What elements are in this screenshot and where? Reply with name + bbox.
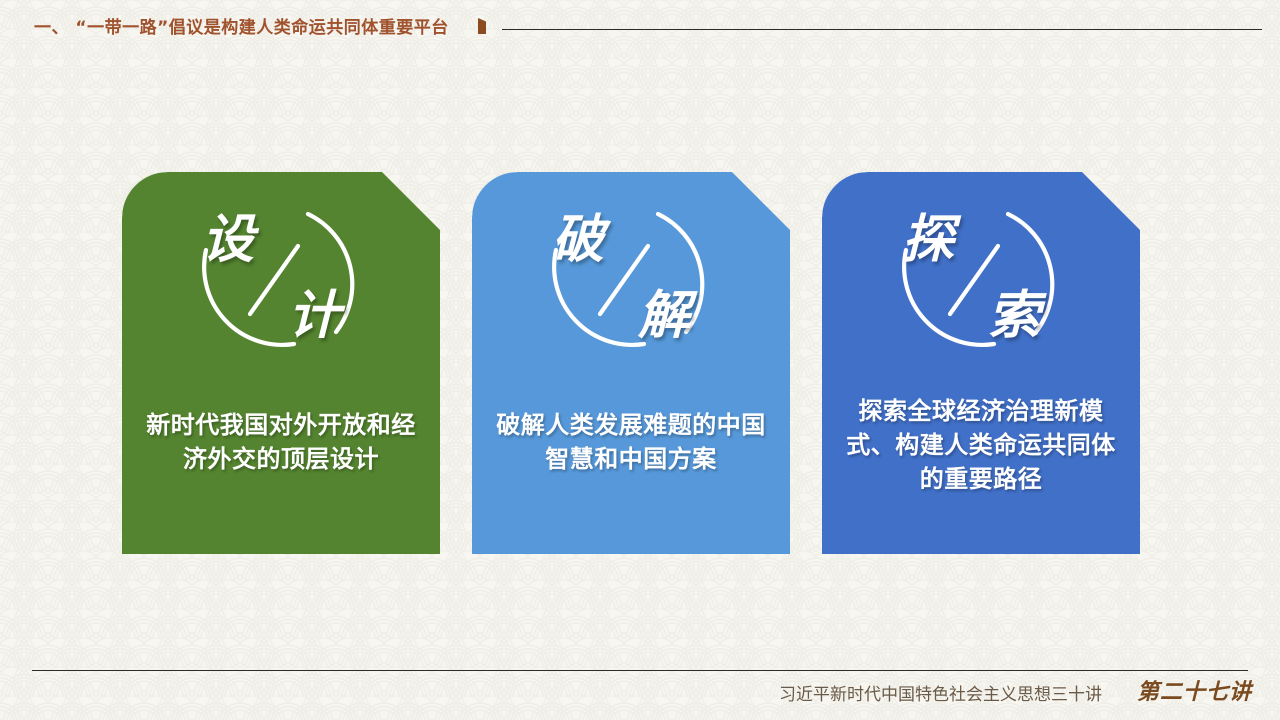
card-explore-body-text: 探索全球经济治理新模式、构建人类命运共同体的重要路径 <box>822 394 1140 496</box>
card-design-glyph-bottom: 计 <box>288 290 340 342</box>
card-solve-glyph-bottom: 解 <box>638 290 690 342</box>
card-group: 设 计 新时代我国对外开放和经济外交的顶层设计 <box>0 0 1280 720</box>
card-design-glyph-top: 设 <box>202 214 254 266</box>
card-explore-surface: 探 索 探索全球经济治理新模式、构建人类命运共同体的重要路径 <box>822 172 1140 554</box>
card-explore-glyph-top: 探 <box>902 214 954 266</box>
slide-footer: 习近平新时代中国特色社会主义思想三十讲 第二十七讲 <box>0 660 1280 720</box>
card-solve-body-text: 破解人类发展难题的中国智慧和中国方案 <box>472 408 790 476</box>
card-design[interactable]: 设 计 新时代我国对外开放和经济外交的顶层设计 <box>122 172 440 554</box>
card-explore-glyph-bottom: 索 <box>988 290 1040 342</box>
card-design-body-text: 新时代我国对外开放和经济外交的顶层设计 <box>122 408 440 476</box>
card-solve-glyph-top: 破 <box>552 214 604 266</box>
slide-canvas: 一、 “一带一路”倡议是构建人类命运共同体重要平台 <box>0 0 1280 720</box>
card-design-calligraphy: 设 计 <box>122 172 440 392</box>
card-explore-calligraphy: 探 索 <box>822 172 1140 392</box>
footer-series-title: 习近平新时代中国特色社会主义思想三十讲 <box>779 680 1102 705</box>
card-solve-calligraphy: 破 解 <box>472 172 790 392</box>
footer-divider-line <box>32 670 1248 671</box>
card-solve-surface: 破 解 破解人类发展难题的中国智慧和中国方案 <box>472 172 790 554</box>
card-explore[interactable]: 探 索 探索全球经济治理新模式、构建人类命运共同体的重要路径 <box>822 172 1140 554</box>
card-solve[interactable]: 破 解 破解人类发展难题的中国智慧和中国方案 <box>472 172 790 554</box>
card-design-surface: 设 计 新时代我国对外开放和经济外交的顶层设计 <box>122 172 440 554</box>
footer-lecture-number: 第二十七讲 <box>1137 674 1252 706</box>
